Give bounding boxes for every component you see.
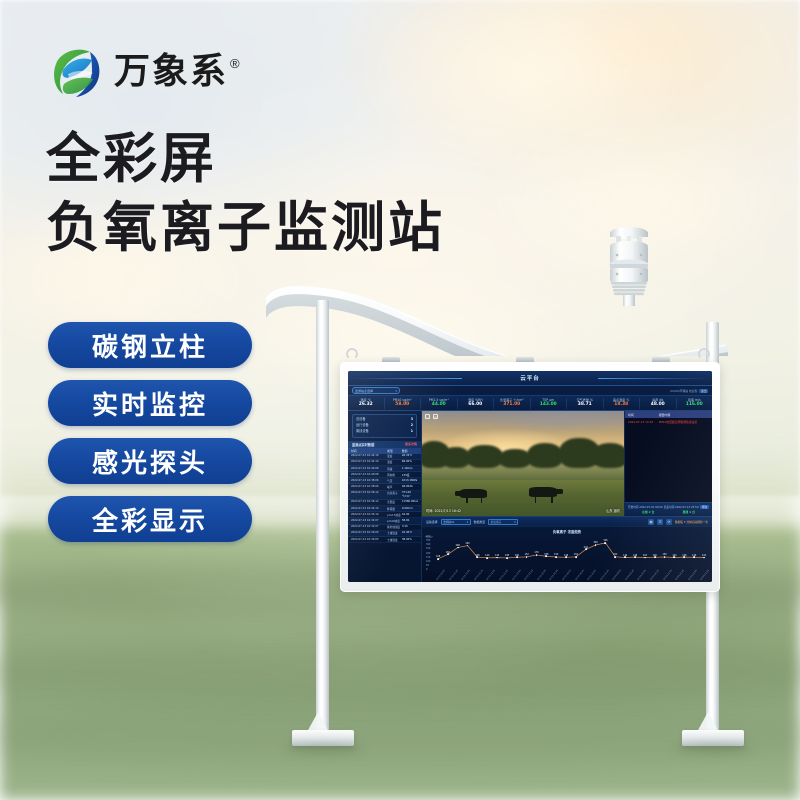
feature-badge-4[interactable]: 全彩显示 <box>48 496 252 542</box>
headline-block: 全彩屏 负氧离子监测站 <box>46 124 445 262</box>
headline-line-2: 负氧离子监测站 <box>46 193 445 262</box>
feature-badge-3[interactable]: 感光探头 <box>48 438 252 484</box>
globe-swirl-logo-icon <box>48 44 104 100</box>
brand-name: 万象系 <box>114 54 228 90</box>
registered-mark: ® <box>230 56 240 71</box>
headline-line-1: 全彩屏 <box>46 124 445 193</box>
brand-logo-row: 万象系 ® <box>48 44 240 100</box>
marketing-overlay: 万象系 ® 全彩屏 负氧离子监测站 碳钢立柱实时监控感光探头全彩显示 <box>0 0 800 800</box>
brand-wordmark: 万象系 ® <box>114 54 240 90</box>
feature-badge-2[interactable]: 实时监控 <box>48 380 252 426</box>
feature-badge-1[interactable]: 碳钢立柱 <box>48 322 252 368</box>
feature-badge-list: 碳钢立柱实时监控感光探头全彩显示 <box>48 322 252 542</box>
